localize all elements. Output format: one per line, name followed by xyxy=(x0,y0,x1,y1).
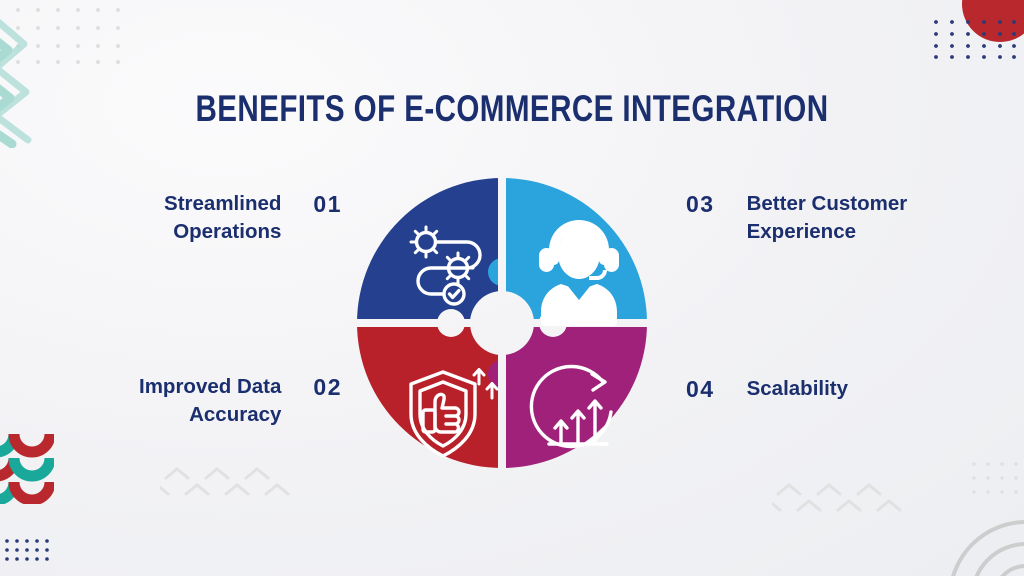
benefit-number-04: 04 xyxy=(686,375,715,404)
benefit-number-01: 01 xyxy=(313,190,342,219)
benefit-label-04-text: Scalability xyxy=(747,375,848,403)
arc-pattern-bottom-left xyxy=(0,430,54,504)
dot-grid-bottom-left xyxy=(4,538,50,566)
slide-canvas: BENEFITS OF E-COMMERCE INTEGRATION Strea… xyxy=(0,0,1024,576)
benefit-number-02: 02 xyxy=(313,373,342,402)
page-title: BENEFITS OF E-COMMERCE INTEGRATION xyxy=(102,88,921,130)
dot-grid-bottom-right xyxy=(970,460,1020,504)
benefit-label-03: 03 Better Customer Experience xyxy=(686,190,1006,247)
puzzle-wheel-diagram xyxy=(347,168,657,478)
chevron-pattern-right xyxy=(772,478,902,520)
concentric-rings-bottom-right xyxy=(914,494,1024,576)
dot-grid-top-left xyxy=(14,6,134,66)
zigzag-squiggle-top-left xyxy=(0,18,38,148)
benefit-label-03-text: Better Customer Experience xyxy=(747,190,908,247)
chevron-pattern-left xyxy=(160,462,290,504)
benefit-label-02-text: Improved Data Accuracy xyxy=(139,373,281,430)
benefit-label-01: Streamlined Operations 01 xyxy=(60,190,342,247)
benefit-label-04: 04 Scalability xyxy=(686,375,1006,404)
benefit-label-01-text: Streamlined Operations xyxy=(164,190,281,247)
red-circle-top-right xyxy=(962,0,1024,42)
benefit-number-03: 03 xyxy=(686,190,715,219)
benefit-label-02: Improved Data Accuracy 02 xyxy=(40,373,342,430)
